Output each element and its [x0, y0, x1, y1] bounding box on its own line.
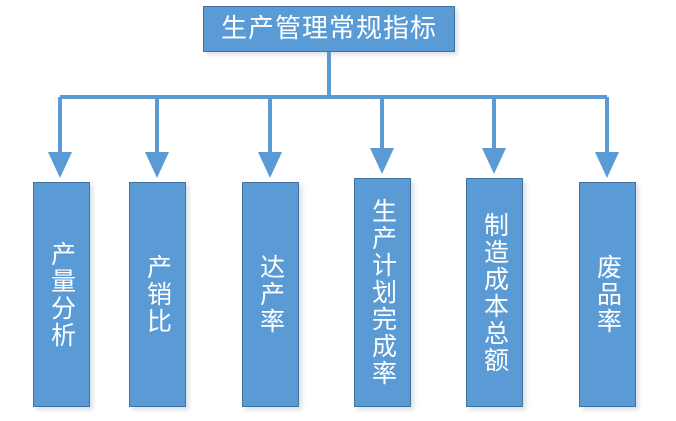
- leaf-node-4-label: 生产计划完成率: [369, 198, 397, 387]
- leaf-node-2-label: 产销比: [144, 254, 172, 335]
- leaf-node-6-label: 废品率: [594, 254, 622, 335]
- leaf-node-2: 产销比: [129, 182, 186, 407]
- production-management-indicator-diagram: 生产管理常规指标 产量分析 产销比 达产率 生产计划完成率 制造成本总额 废品率: [0, 0, 676, 421]
- connector-lines: [0, 0, 676, 421]
- arrowhead-4: [370, 148, 394, 174]
- leaf-node-1-label: 产量分析: [48, 241, 76, 349]
- leaf-node-5: 制造成本总额: [466, 178, 523, 407]
- leaf-node-5-label: 制造成本总额: [481, 212, 509, 374]
- root-node: 生产管理常规指标: [203, 6, 455, 52]
- arrowhead-5: [482, 148, 506, 174]
- root-node-label: 生产管理常规指标: [221, 16, 437, 42]
- arrowhead-3: [258, 152, 282, 178]
- leaf-node-3: 达产率: [242, 182, 299, 407]
- arrowhead-6: [595, 152, 619, 178]
- leaf-node-6: 废品率: [579, 182, 636, 407]
- leaf-node-1: 产量分析: [33, 182, 90, 407]
- leaf-node-3-label: 达产率: [257, 254, 285, 335]
- arrowhead-1: [48, 152, 72, 178]
- leaf-node-4: 生产计划完成率: [354, 178, 411, 407]
- arrowhead-2: [145, 152, 169, 178]
